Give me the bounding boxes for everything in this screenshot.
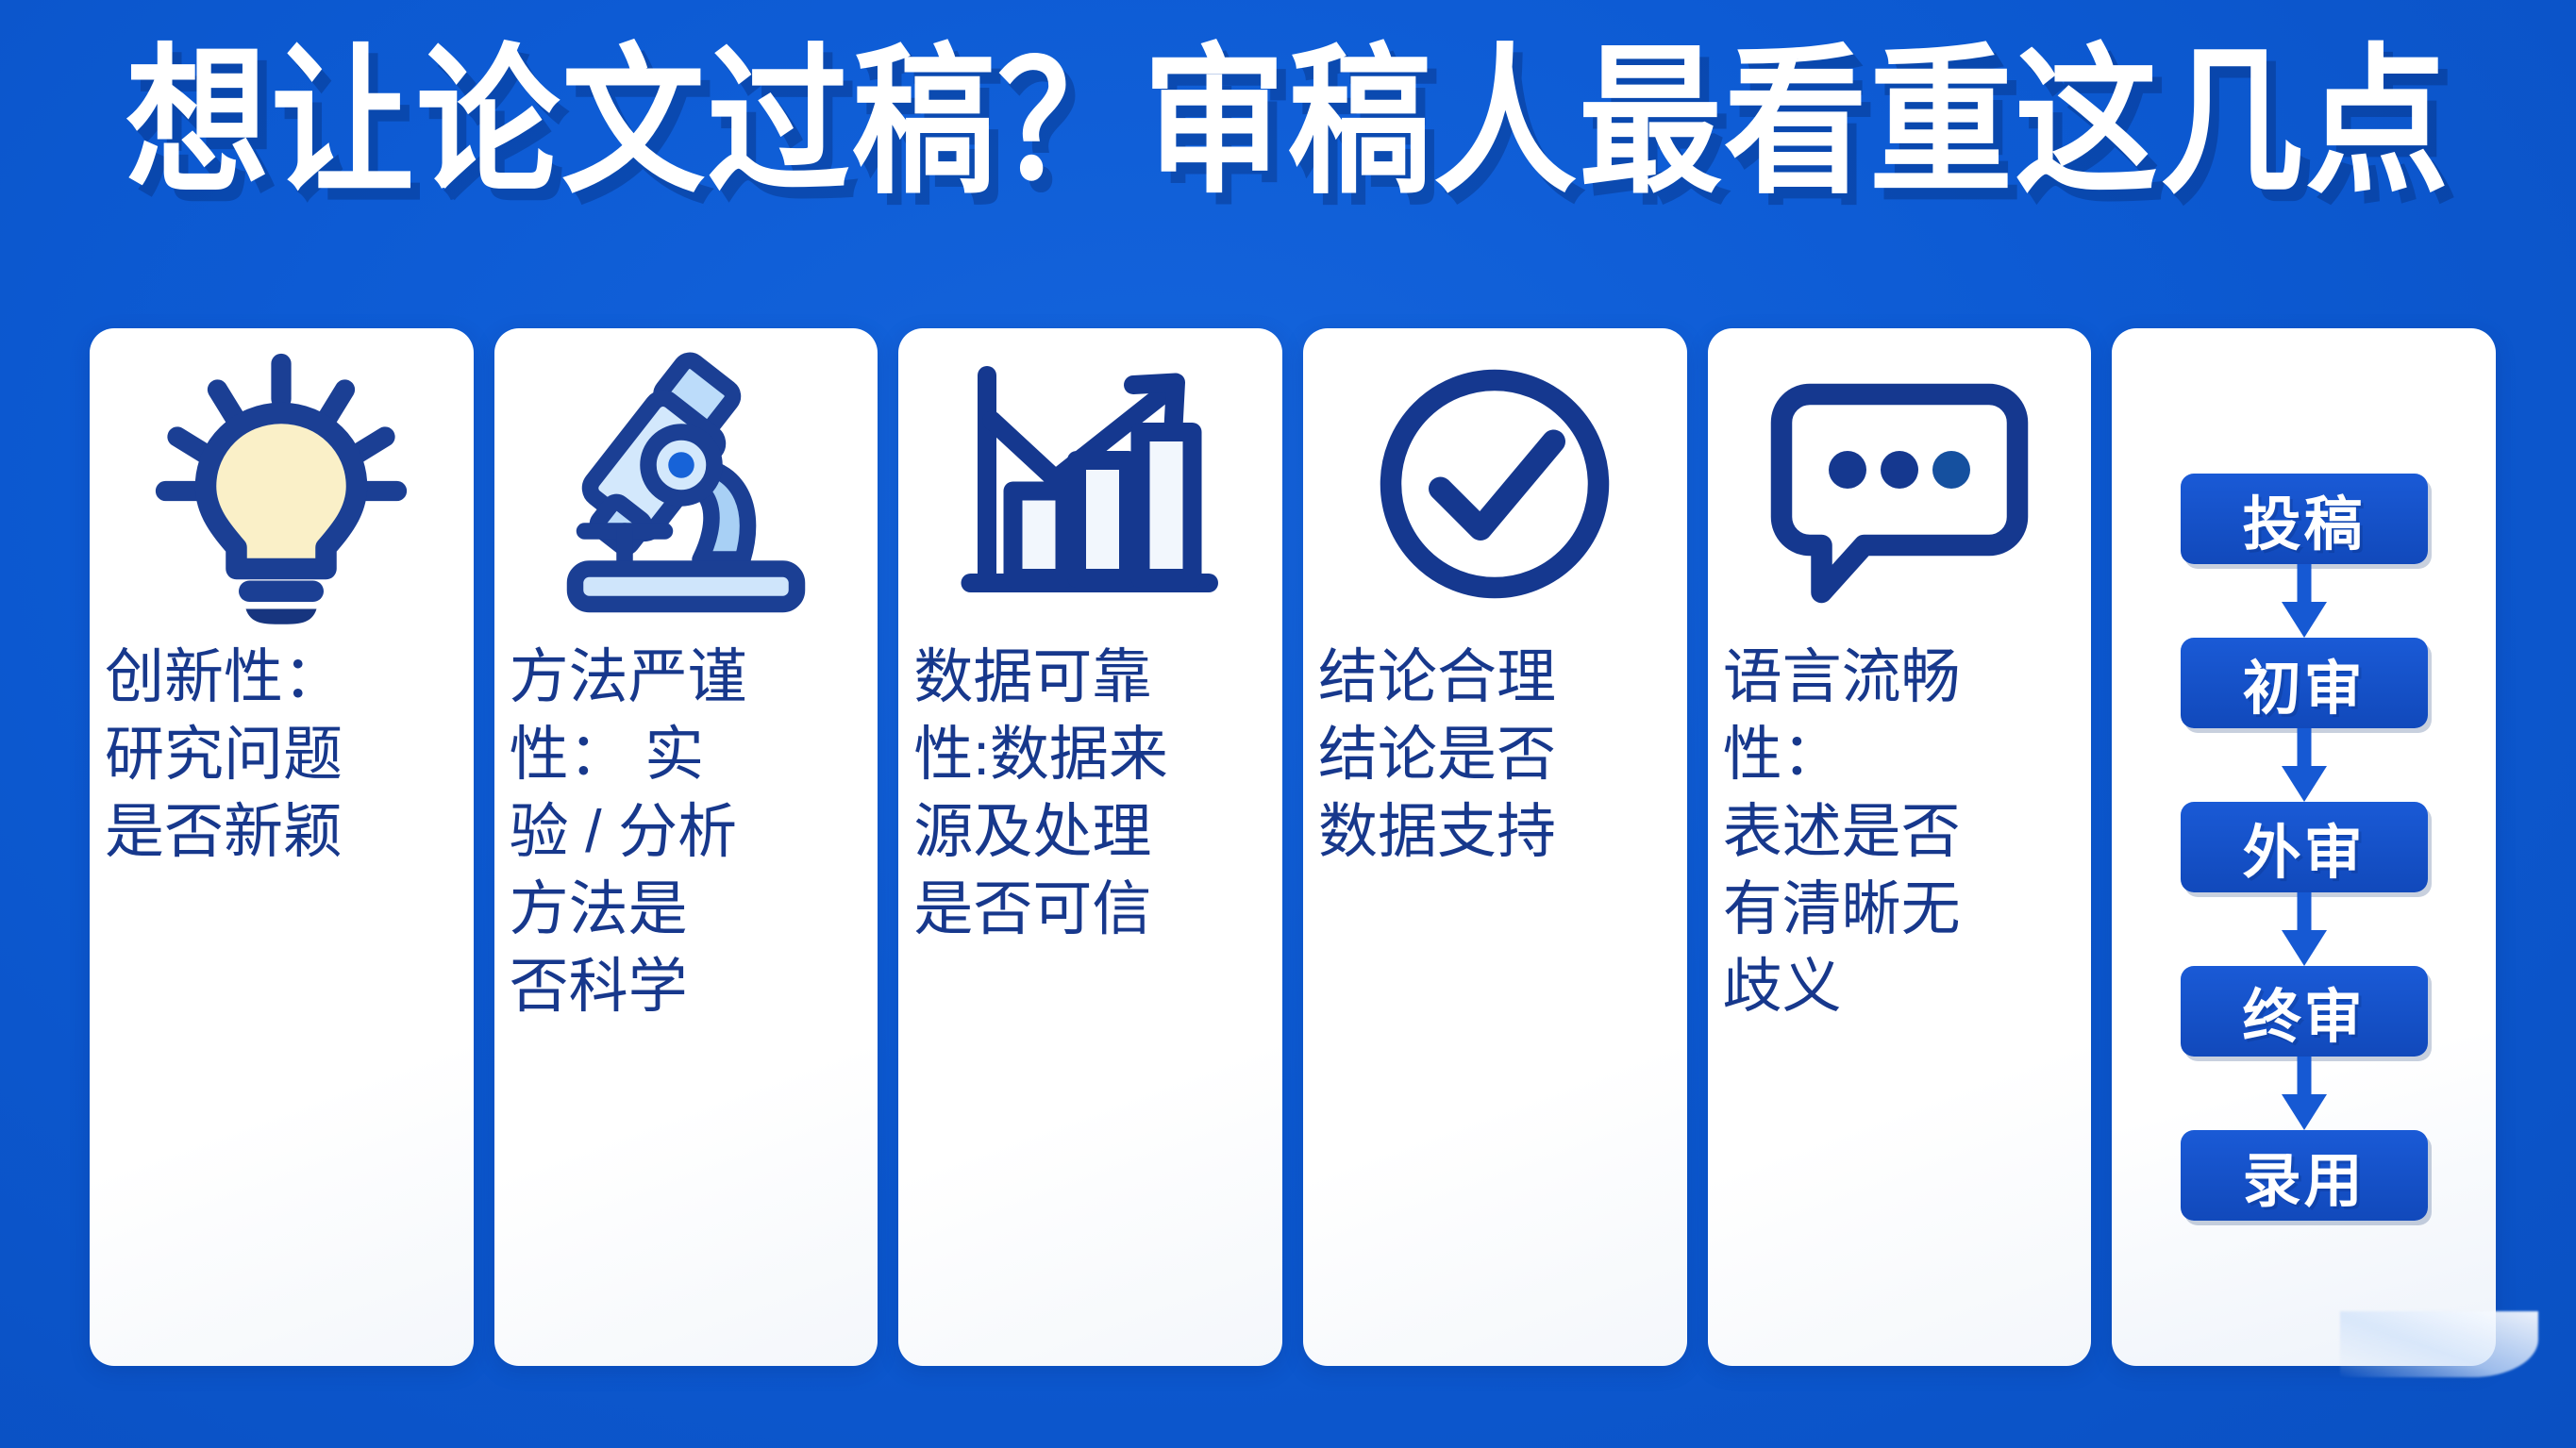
criteria-card-text: 数据可靠 性:数据来 源及处理 是否可信 bbox=[898, 640, 1282, 949]
check-circle-icon bbox=[1303, 328, 1687, 640]
review-process-flowchart: 投稿 初审 外审 终审 录用 bbox=[2112, 328, 2496, 1366]
flow-arrow-down-icon bbox=[2283, 892, 2326, 966]
criteria-card-text: 创新性： 研究问题 是否新颖 bbox=[90, 640, 474, 872]
flow-arrow-down-icon bbox=[2283, 564, 2326, 638]
speech-bubble-icon bbox=[1708, 328, 2092, 640]
criteria-card-text: 结论合理 结论是否 数据支持 bbox=[1303, 640, 1687, 872]
criteria-card-innovation[interactable]: 创新性： 研究问题 是否新颖 bbox=[90, 328, 474, 1366]
criteria-card-row: 创新性： 研究问题 是否新颖 bbox=[90, 328, 2496, 1366]
flow-arrow-down-icon bbox=[2283, 1057, 2326, 1130]
flow-step-final-review[interactable]: 终审 bbox=[2181, 966, 2428, 1057]
criteria-card-text: 语言流畅 性： 表述是否 有清晰无 歧义 bbox=[1708, 640, 2092, 1025]
lightbulb-icon bbox=[90, 328, 474, 640]
flow-step-external-review[interactable]: 外审 bbox=[2181, 802, 2428, 892]
flow-stack: 投稿 初审 外审 终审 录用 bbox=[2181, 474, 2428, 1221]
flow-step-accepted[interactable]: 录用 bbox=[2181, 1130, 2428, 1221]
criteria-card-text: 方法严谨 性： 实 验 / 分析 方法是 否科学 bbox=[494, 640, 878, 1025]
page-title: 想让论文过稿？审稿人最看重这几点 bbox=[125, 42, 2451, 202]
infographic-poster: 想让论文过稿？审稿人最看重这几点 bbox=[0, 0, 2576, 1448]
criteria-card-data-reliability[interactable]: 数据可靠 性:数据来 源及处理 是否可信 bbox=[898, 328, 1282, 1366]
criteria-card-methodology[interactable]: 方法严谨 性： 实 验 / 分析 方法是 否科学 bbox=[494, 328, 878, 1366]
microscope-icon bbox=[494, 328, 878, 640]
criteria-card-language[interactable]: 语言流畅 性： 表述是否 有清晰无 歧义 bbox=[1708, 328, 2092, 1366]
poster-title-bar: 想让论文过稿？审稿人最看重这几点 bbox=[0, 21, 2576, 224]
bar-chart-growth-icon bbox=[898, 328, 1282, 640]
flow-step-submit[interactable]: 投稿 bbox=[2181, 474, 2428, 564]
flow-step-initial-review[interactable]: 初审 bbox=[2181, 638, 2428, 728]
criteria-card-conclusion[interactable]: 结论合理 结论是否 数据支持 bbox=[1303, 328, 1687, 1366]
flow-arrow-down-icon bbox=[2283, 728, 2326, 802]
